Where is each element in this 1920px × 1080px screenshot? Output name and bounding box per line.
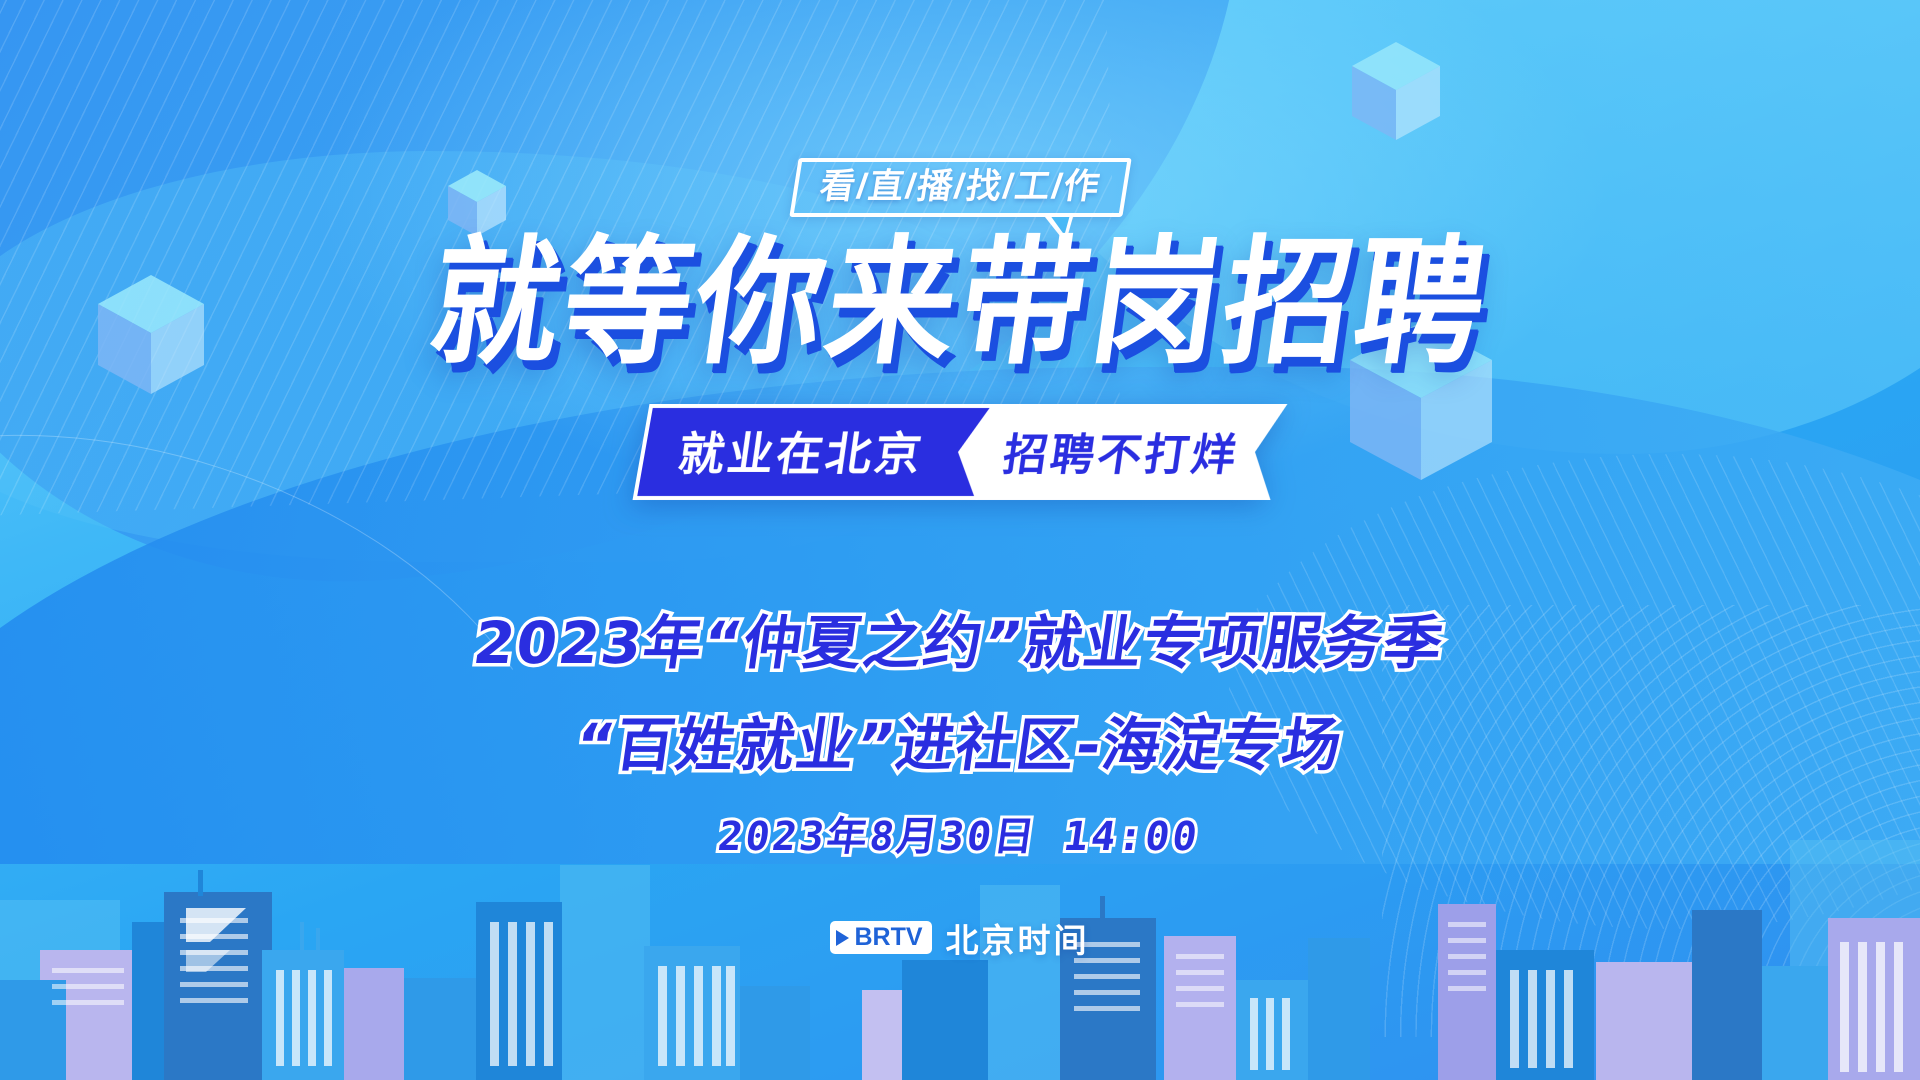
tagline-badge: 看/直/播/找/工/作 bbox=[789, 158, 1131, 217]
page-title: 就等你来带岗招聘 bbox=[422, 234, 1498, 375]
ribbon-right-segment: 招聘不打烊 bbox=[950, 404, 1288, 500]
tagline-text: 看/直/播/找/工/作 bbox=[817, 169, 1103, 204]
subtitle-line-2: “百姓就业”进社区-海淀专场 bbox=[571, 698, 1349, 782]
ribbon-left-label: 就业在北京 bbox=[675, 418, 929, 484]
subtitle-line-1: 2023年“仲夏之约”就业专项服务季 bbox=[469, 596, 1450, 680]
tagline-box: 看/直/播/找/工/作 bbox=[789, 158, 1131, 217]
brand-logo: BRTV 北京时间 bbox=[830, 914, 1089, 962]
ribbon-banner: 就业在北京 招聘不打烊 bbox=[633, 404, 1288, 500]
event-datetime: 2023年8月30日 14:00 bbox=[715, 804, 1204, 862]
brtv-logo-mark: BRTV bbox=[830, 921, 931, 954]
ribbon-left-segment: 就业在北京 bbox=[633, 404, 995, 500]
promo-banner: 看/直/播/找/工/作 就等你来带岗招聘 就业在北京 招聘不打烊 2023年“仲… bbox=[0, 0, 1920, 1080]
banner-content: 看/直/播/找/工/作 就等你来带岗招聘 就业在北京 招聘不打烊 2023年“仲… bbox=[0, 0, 1920, 962]
ribbon-right-label: 招聘不打烊 bbox=[1000, 419, 1244, 483]
play-triangle-icon bbox=[836, 930, 849, 946]
brand-name-cn: 北京时间 bbox=[946, 914, 1090, 962]
brtv-wordmark: BRTV bbox=[854, 925, 922, 950]
